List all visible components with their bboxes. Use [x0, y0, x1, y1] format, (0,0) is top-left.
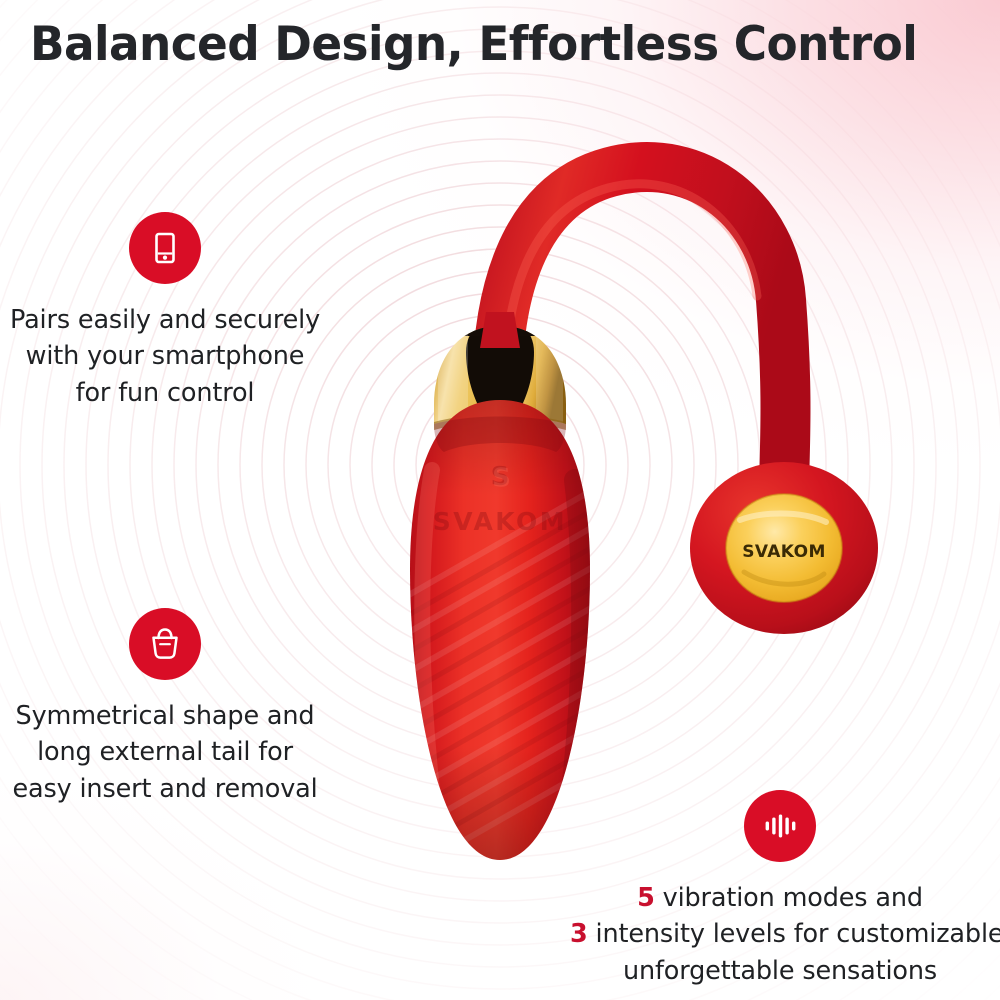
- feature-line: Symmetrical shape and: [10, 698, 320, 734]
- feature-line: easy insert and removal: [10, 771, 320, 807]
- smartphone-icon: [145, 228, 185, 268]
- vibration-wave-icon-circle: [744, 790, 816, 862]
- feature-line: Pairs easily and securely: [10, 302, 320, 338]
- intensity-text: intensity levels for customizable,: [588, 919, 1000, 949]
- feature-text: Symmetrical shape and long external tail…: [10, 698, 320, 807]
- feature-icon-wrap: [570, 790, 990, 862]
- smartphone-icon-circle: [129, 212, 201, 284]
- feature-line: for fun control: [10, 375, 320, 411]
- feature-line-modes: 5 vibration modes and: [570, 880, 990, 916]
- page-title: Balanced Design, Effortless Control: [30, 17, 937, 72]
- feature-icon-wrap: [10, 212, 320, 284]
- feature-line: with your smartphone: [10, 338, 320, 374]
- bag-icon-circle: [129, 608, 201, 680]
- feature-line: long external tail for: [10, 734, 320, 770]
- feature-symmetrical-shape: Symmetrical shape and long external tail…: [10, 608, 320, 807]
- feature-vibration-modes: 5 vibration modes and 3 intensity levels…: [570, 790, 990, 989]
- feature-line: unforgettable sensations: [570, 953, 990, 989]
- feature-text: Pairs easily and securely with your smar…: [10, 302, 320, 411]
- modes-count: 5: [637, 883, 655, 913]
- feature-pairs-smartphone: Pairs easily and securely with your smar…: [10, 212, 320, 411]
- modes-text: vibration modes and: [655, 883, 923, 913]
- feature-line-intensity: 3 intensity levels for customizable,: [570, 916, 990, 952]
- vibration-wave-icon: [759, 805, 801, 847]
- bag-icon: [144, 623, 186, 665]
- feature-icon-wrap: [10, 608, 320, 680]
- infographic-page: SVAKOM: [0, 0, 1000, 1000]
- feature-text: 5 vibration modes and 3 intensity levels…: [570, 880, 990, 989]
- intensity-count: 3: [570, 919, 588, 949]
